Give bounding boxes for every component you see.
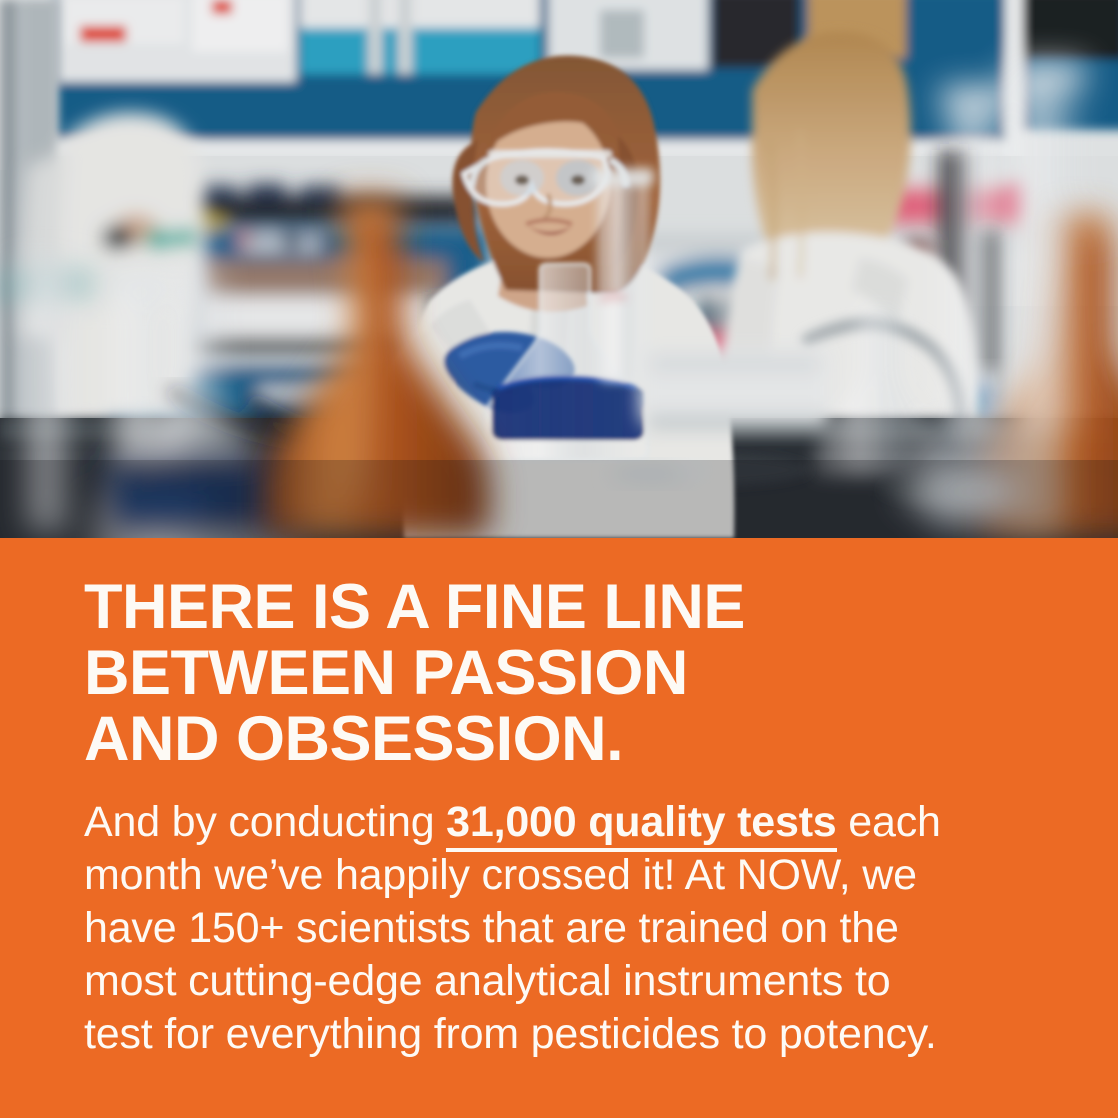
headline-line-3: AND OBSESSION. xyxy=(84,706,1064,772)
quality-tests-emphasis: 31,000 quality tests xyxy=(446,798,836,852)
lab-photo: 500 xyxy=(0,0,1118,538)
body-paragraph: And by conducting 31,000 quality tests e… xyxy=(84,796,1044,1061)
ad-graphic: 500 xyxy=(0,0,1118,1118)
body-line-1: And by conducting 31,000 quality tests e… xyxy=(84,796,1044,849)
orange-message-panel: THERE IS A FINE LINE BETWEEN PASSION AND… xyxy=(0,538,1118,1118)
headline-line-1: THERE IS A FINE LINE xyxy=(84,574,1064,640)
body-line-3: have 150+ scientists that are trained on… xyxy=(84,902,1044,955)
body-line-5: test for everything from pesticides to p… xyxy=(84,1008,1044,1061)
body-line-4: most cutting-edge analytical instruments… xyxy=(84,955,1044,1008)
body-line-2: month we’ve happily crossed it! At NOW, … xyxy=(84,849,1044,902)
headline: THERE IS A FINE LINE BETWEEN PASSION AND… xyxy=(84,574,1064,772)
headline-line-2: BETWEEN PASSION xyxy=(84,640,1064,706)
body-text-segment: each xyxy=(837,798,941,846)
body-text-segment: And by conducting xyxy=(84,798,446,846)
